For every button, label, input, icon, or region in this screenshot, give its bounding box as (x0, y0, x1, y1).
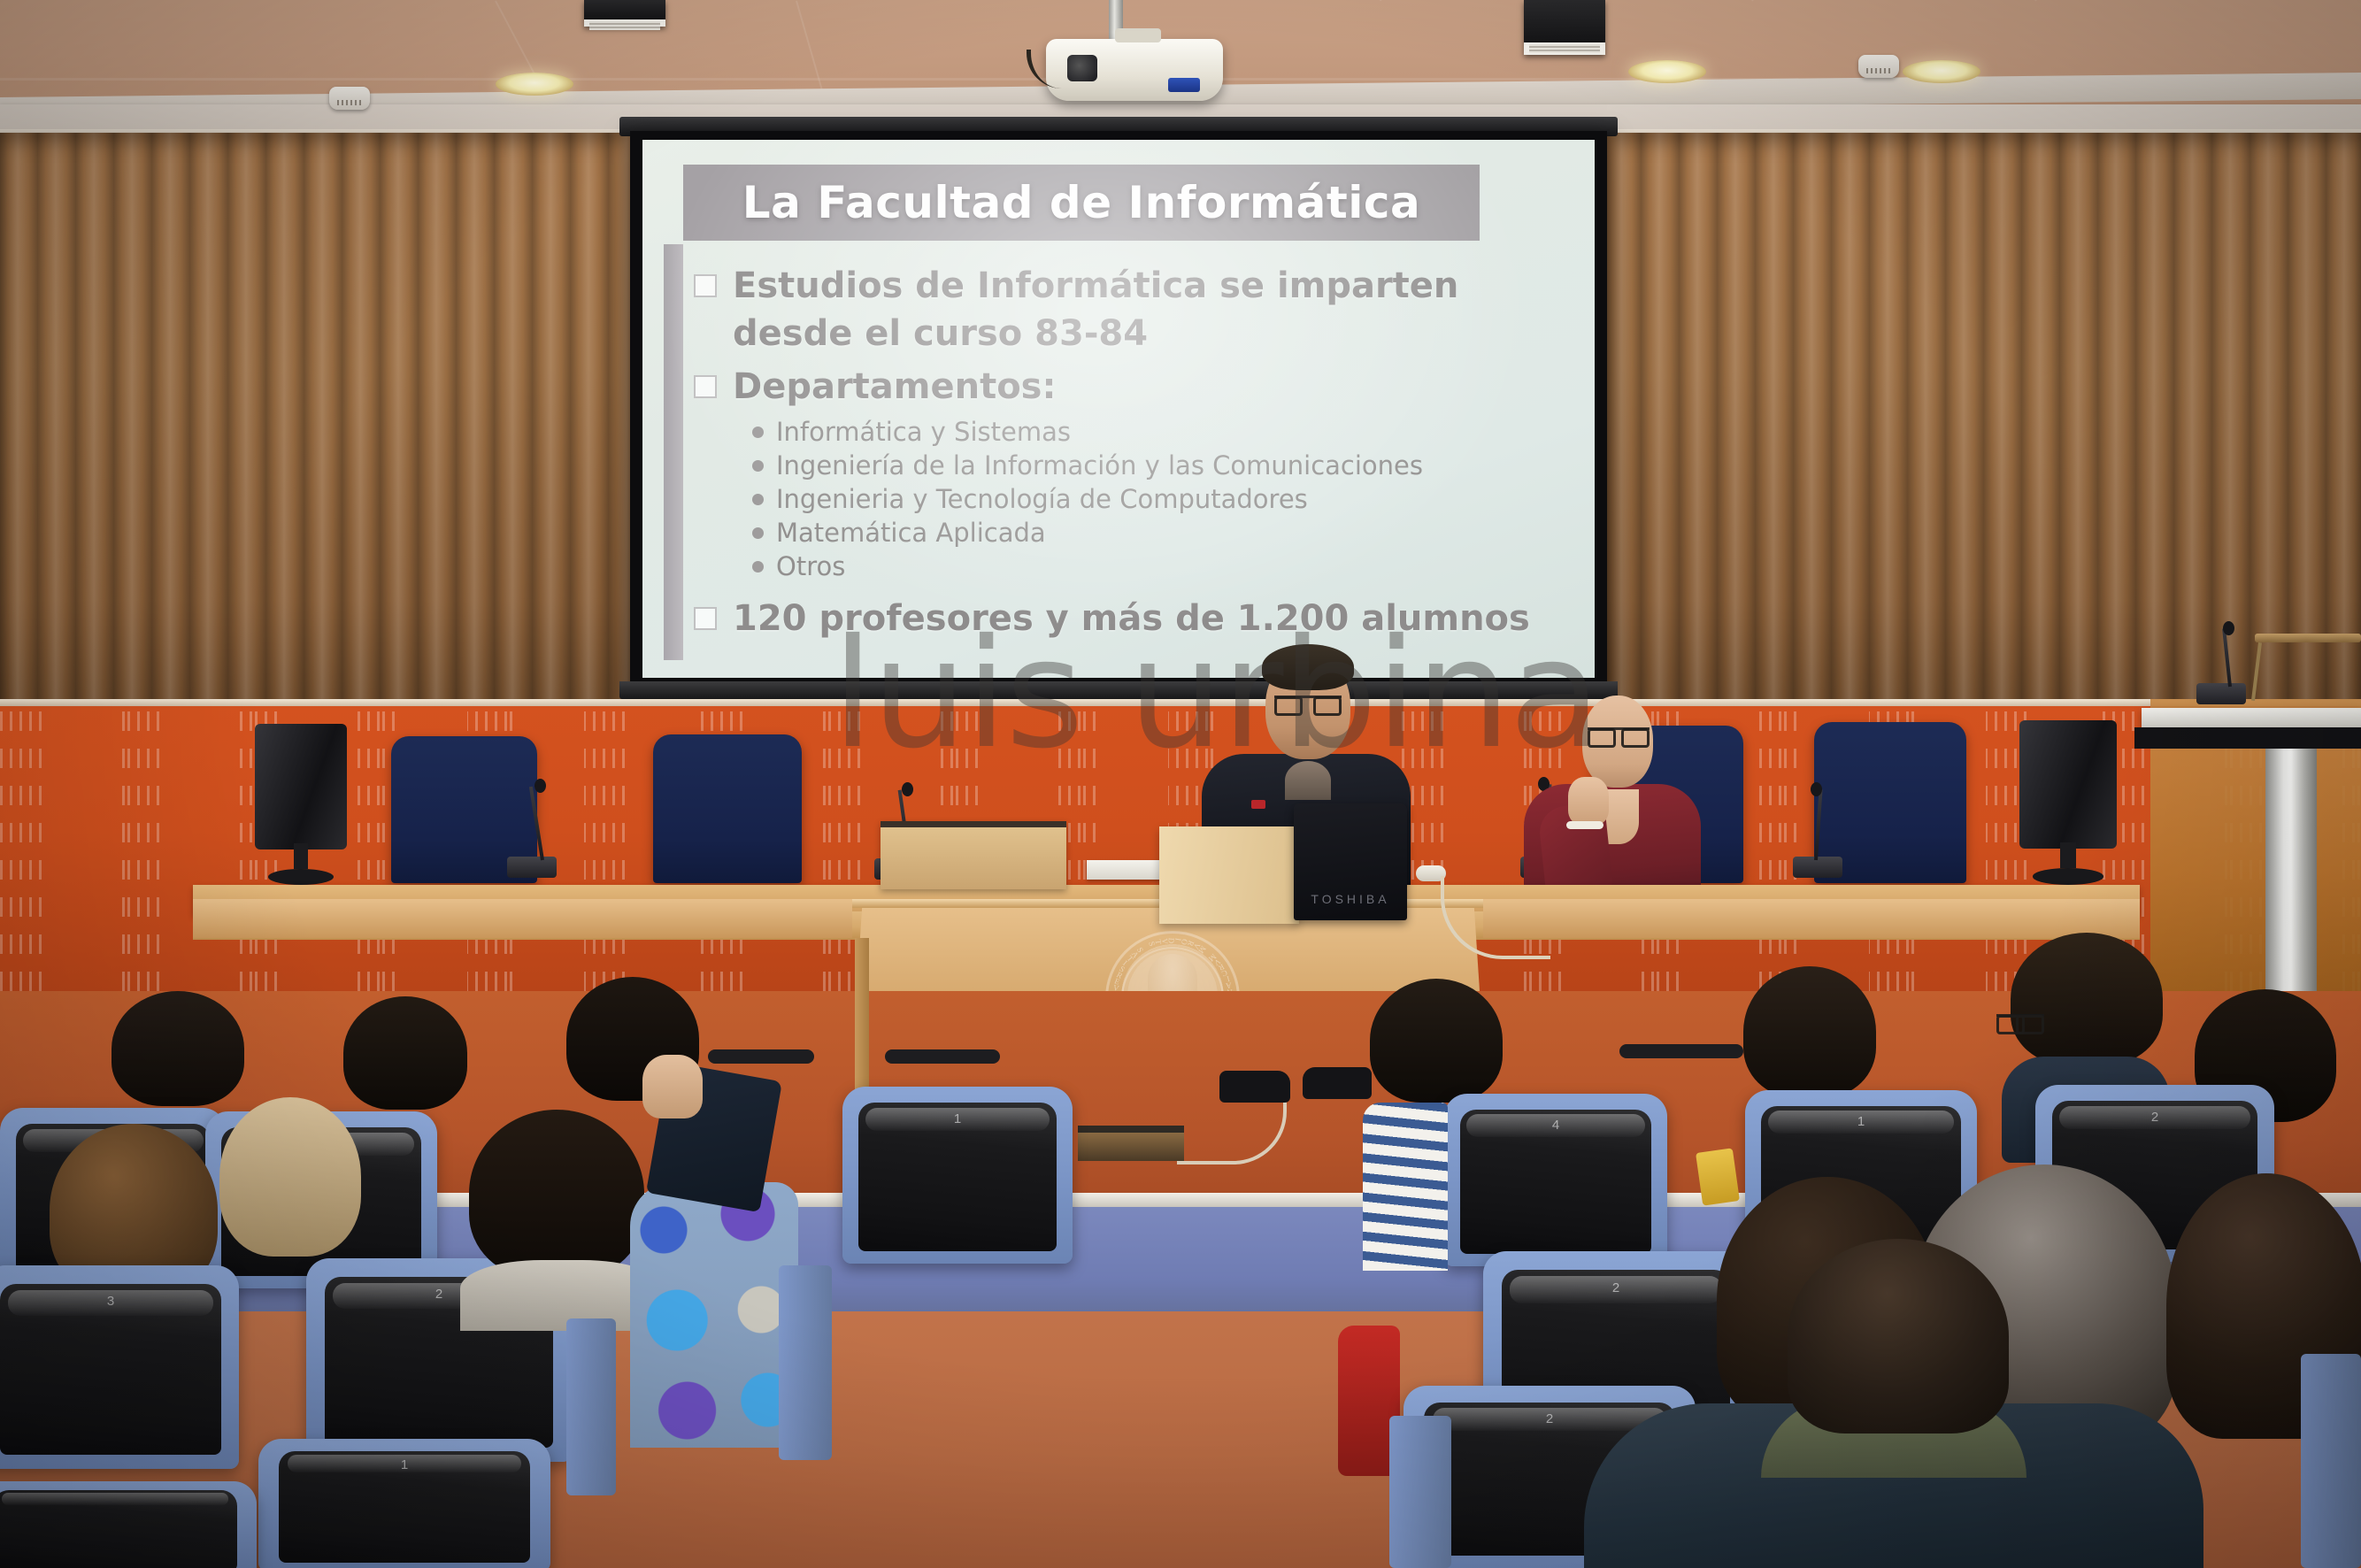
audience-hand (642, 1055, 703, 1118)
audience-member (1743, 966, 1876, 1108)
monitor-stand-base (268, 869, 335, 885)
ceiling-light-fixture (584, 0, 665, 27)
seat-number: 1 (258, 1457, 550, 1472)
slide-bullet: Estudios de Informática se imparten desd… (694, 262, 1579, 357)
ceiling-light-fixture (1524, 0, 1605, 55)
lectern-microphone-head-icon (2223, 621, 2234, 635)
laptop: TOSHIBA (1294, 803, 1407, 920)
panel-chair (653, 734, 802, 883)
chair-castor (1619, 1044, 1743, 1058)
presenter-shoes (1303, 1067, 1372, 1099)
projection-screen-surface: La Facultad de Informática Estudios de I… (642, 140, 1595, 678)
panel-monitor-right (2019, 720, 2117, 885)
table-microphone-head-icon (534, 779, 546, 793)
auditorium-seat[interactable]: 4 (1444, 1094, 1667, 1266)
audience-member-patterned-hoodie (630, 1182, 798, 1448)
audience-member (1370, 979, 1503, 1111)
auditorium-seat[interactable] (0, 1481, 257, 1568)
ceiling-downlight (1628, 60, 1706, 83)
chair-castor (885, 1049, 1000, 1064)
chair-castor (708, 1049, 814, 1064)
slide-subbullet-text: Ingeniería de la Información y las Comun… (776, 450, 1423, 482)
cardboard-box (881, 821, 1066, 889)
seat-number: 1 (842, 1111, 1073, 1126)
lectern-reading-lamp (2255, 634, 2361, 642)
slide-bullet: Departamentos: (694, 363, 1579, 411)
slide-subbullet: Ingenieria y Tecnología de Computadores (752, 483, 1579, 516)
audience-member (343, 996, 467, 1116)
seat-armrest (779, 1265, 832, 1460)
audience-member-foreground-head (1788, 1239, 2009, 1433)
audience-hair (1370, 979, 1503, 1103)
presenter-man-collar (1285, 761, 1331, 800)
presenter-shoes (1219, 1071, 1290, 1103)
audience-hair (112, 991, 244, 1106)
dot-bullet-icon (752, 494, 764, 505)
slide-subbullet: Matemática Aplicada (752, 517, 1579, 550)
floor-cable-box (1078, 1126, 1184, 1161)
slide-subbullet: Otros (752, 550, 1579, 583)
monitor-stand-neck (294, 843, 309, 869)
slide-subbullet-text: Informática y Sistemas (776, 416, 1071, 449)
slide-bullet: 120 profesores y más de 1.200 alumnos (694, 595, 1579, 642)
slide-subbullet-text: Matemática Aplicada (776, 517, 1046, 550)
slide-bullet-text: Estudios de Informática se imparten desd… (733, 262, 1579, 357)
slide-sublist: Informática y Sistemas Ingeniería de la … (752, 416, 1579, 584)
square-bullet-icon (694, 274, 717, 297)
seat-armrest (2301, 1354, 2361, 1568)
standing-nameplate-board (1159, 826, 1299, 924)
seat-armrest (566, 1318, 616, 1495)
audience-member (112, 991, 244, 1115)
auditorium-seat[interactable]: 1 (258, 1439, 550, 1568)
monitor-stand-neck (2060, 842, 2076, 869)
projector-lens-icon (1067, 55, 1097, 81)
presenter-man-glasses-icon (1274, 696, 1342, 709)
panel-table-left-wing (193, 899, 852, 938)
seat-number: 2 (1483, 1280, 1749, 1295)
audience-member (219, 1097, 361, 1265)
audience-hair (1743, 966, 1876, 1097)
stage-curtain-right (1603, 133, 2361, 717)
panelist-woman-glasses-icon (1588, 727, 1650, 741)
lecture-hall-scene: La Facultad de Informática Estudios de I… (0, 0, 2361, 1568)
audience-glasses-icon (1996, 1014, 2044, 1027)
monitor-screen (255, 724, 347, 849)
dot-bullet-icon (752, 460, 764, 472)
projection-screen-weight-bar (619, 681, 1618, 699)
stage-curtain-left (0, 133, 635, 717)
seat-armrest (1389, 1416, 1451, 1568)
audience-member (2011, 933, 2163, 1110)
smoke-detector-icon (1858, 55, 1899, 78)
slide-accent-bar (664, 244, 683, 660)
projector-label (1168, 78, 1200, 92)
seat-highlight (2, 1493, 228, 1505)
slide-subbullet: Informática y Sistemas (752, 416, 1579, 449)
slide-title-bar: La Facultad de Informática (683, 165, 1480, 241)
slide-body: Estudios de Informática se imparten desd… (694, 262, 1579, 648)
slide-bullet-text: Departamentos: (733, 363, 1057, 411)
panel-monitor-left (255, 724, 347, 885)
table-microphone-head-icon (1811, 782, 1822, 796)
projection-screen: La Facultad de Informática Estudios de I… (630, 131, 1607, 697)
presenter-man-badge (1251, 800, 1265, 809)
panelist-woman-hand (1568, 777, 1609, 825)
slide-title: La Facultad de Informática (742, 177, 1421, 228)
monitor-screen (2019, 720, 2117, 849)
slide-subbullet-text: Otros (776, 550, 845, 583)
dot-bullet-icon (752, 527, 764, 539)
seat-number: 3 (0, 1294, 239, 1309)
ceiling-downlight (496, 73, 573, 96)
table-microphone-base (507, 857, 557, 878)
slide-subbullet: Ingeniería de la Información y las Comun… (752, 450, 1579, 482)
presentation-slide: La Facultad de Informática Estudios de I… (642, 140, 1595, 678)
square-bullet-icon (694, 375, 717, 398)
lectern-microphone-base (2196, 683, 2246, 704)
audience-hair (469, 1110, 644, 1278)
audience-hair (343, 996, 467, 1110)
lectern-top (2142, 708, 2361, 729)
lectern-underside (2134, 727, 2361, 749)
audience-hair (2011, 933, 2163, 1065)
square-bullet-icon (694, 607, 717, 630)
audience-member-striped-shirt (1363, 1103, 1448, 1271)
dot-bullet-icon (752, 561, 764, 573)
auditorium-seat[interactable]: 1 (842, 1087, 1073, 1264)
audience-yellow-item (1696, 1148, 1740, 1205)
dot-bullet-icon (752, 427, 764, 438)
ceiling-downlight (1903, 60, 1980, 83)
ceiling-projector (1046, 39, 1223, 101)
seat-number: 4 (1444, 1118, 1667, 1133)
table-microphone-head-icon (902, 782, 913, 796)
seat-number: 1 (1745, 1114, 1977, 1129)
presenter-man-hair (1262, 644, 1354, 690)
monitor-stand-base (2033, 868, 2103, 885)
panelist-woman-bracelet (1566, 821, 1603, 829)
slide-subbullet-text: Ingenieria y Tecnología de Computadores (776, 483, 1308, 516)
laptop-brand-label: TOSHIBA (1294, 892, 1407, 906)
audience-hair (219, 1097, 361, 1257)
panelist-woman (1515, 673, 1706, 892)
smoke-detector-icon (329, 87, 370, 110)
auditorium-seat[interactable]: 3 (0, 1265, 239, 1469)
seat-number: 2 (2035, 1110, 2274, 1125)
